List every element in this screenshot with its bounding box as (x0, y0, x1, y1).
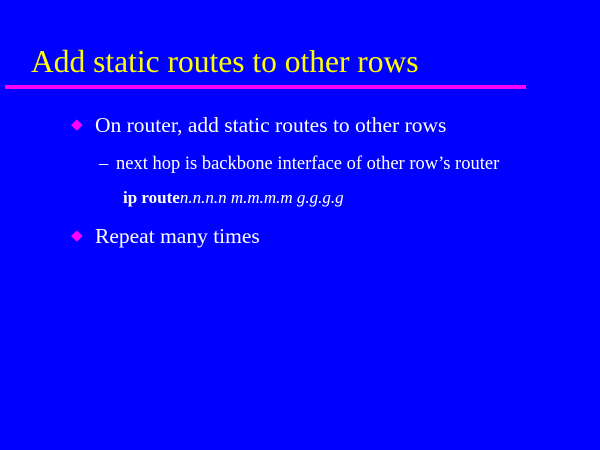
bullet-item-label: Repeat many times (95, 224, 260, 248)
bullet-item-level2: – next hop is backbone interface of othe… (0, 153, 600, 176)
diamond-bullet-icon: ◆ (71, 223, 85, 250)
bullet-item-label: next hop is backbone interface of other … (116, 154, 499, 174)
dash-bullet-icon: – (99, 153, 115, 176)
page-title: Add static routes to other rows (31, 44, 419, 80)
presentation-slide: Add static routes to other rows ◆ On rou… (0, 0, 600, 450)
code-arguments: n.n.n.n m.m.m.m g.g.g.g (180, 188, 344, 207)
bullet-item-label: On router, add static routes to other ro… (95, 113, 446, 137)
bullet-item-level1: ◆ Repeat many times (0, 223, 600, 250)
diamond-bullet-icon: ◆ (71, 112, 85, 139)
code-example-line: ip routen.n.n.n m.m.m.m g.g.g.g (0, 187, 600, 209)
bullet-item-level1: ◆ On router, add static routes to other … (0, 112, 600, 139)
title-underline-rule (5, 85, 526, 89)
slide-title-block: Add static routes to other rows (0, 44, 600, 92)
code-command: ip route (123, 188, 180, 207)
slide-body: ◆ On router, add static routes to other … (0, 112, 600, 250)
